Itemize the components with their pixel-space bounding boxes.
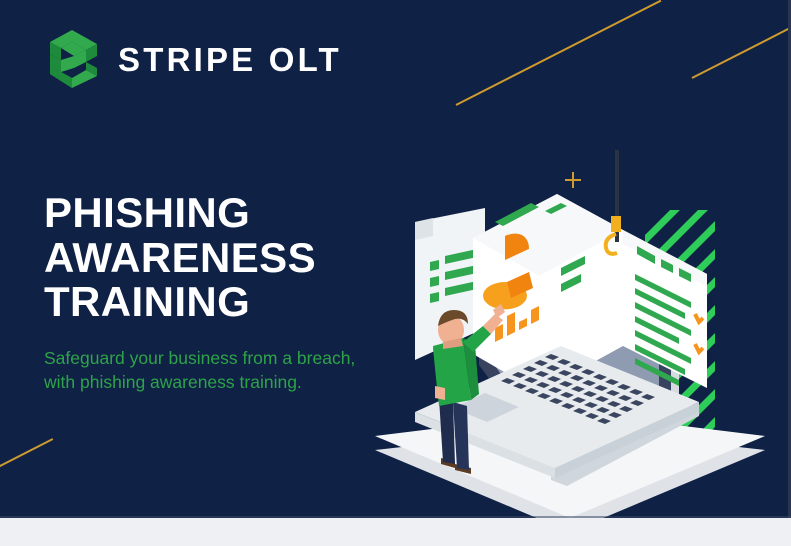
gold-diagonal-line-1 [456, 0, 662, 106]
page-bottom-strip [0, 518, 791, 546]
brand-logo[interactable]: STRIPE OLT [44, 28, 342, 90]
hero-illustration [355, 150, 791, 518]
phishing-awareness-training-banner: STRIPE OLT PHISHING AWARENESS TRAINING S… [0, 0, 791, 546]
page-title: PHISHING AWARENESS TRAINING [44, 191, 384, 325]
isometric-phishing-laptop-illustration-icon [355, 150, 791, 518]
stripe-olt-hexagon-s-logo-icon [44, 28, 100, 90]
brand-name: STRIPE OLT [118, 43, 342, 76]
hero-section: STRIPE OLT PHISHING AWARENESS TRAINING S… [0, 0, 791, 518]
page-subtitle: Safeguard your business from a breach, w… [44, 346, 359, 394]
gold-diagonal-line-2 [692, 24, 791, 79]
gold-diagonal-line-3 [0, 438, 53, 470]
